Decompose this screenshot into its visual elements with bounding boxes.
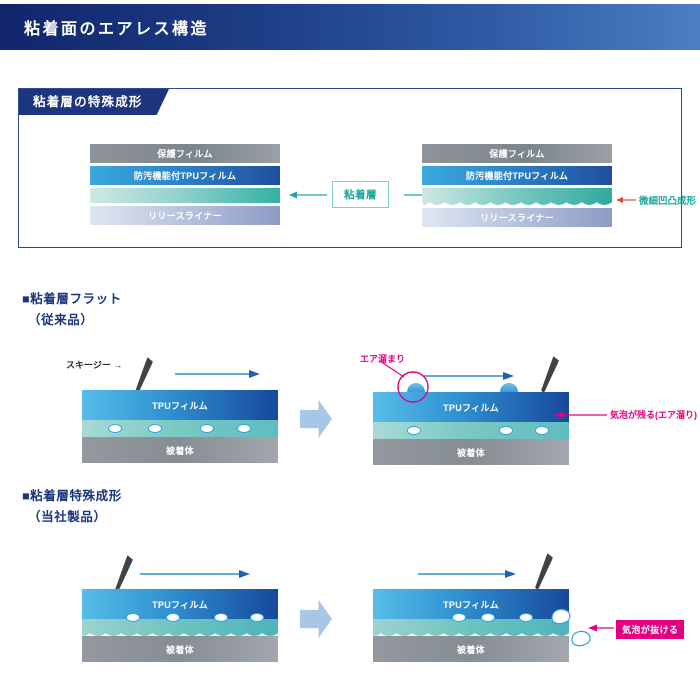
bubbles-escape-label: 気泡が抜ける — [616, 620, 684, 639]
direction-arrow-icon — [418, 568, 516, 580]
product-after-diagram: TPUフィルム 被着体 — [373, 589, 569, 662]
section-conventional-heading: ■粘着層フラット — [22, 288, 122, 307]
texture-callout-label: 微細凹凸成形 — [639, 193, 696, 207]
bubbles-remain-label: 気泡が残る(エア溜り) — [610, 408, 697, 421]
diagram-page: 粘着面のエアレス構造 粘着層の特殊成形 保護フィルム 防汚機能付TPUフィルム … — [0, 0, 700, 700]
adherend-layer: 被着体 — [82, 636, 278, 662]
layer-protective-film: 保護フィルム — [422, 144, 612, 163]
direction-arrow-icon — [175, 368, 260, 380]
bubbles-escape-arrow-icon — [586, 623, 616, 633]
air-bubble — [481, 613, 495, 622]
layer-tpu-film: 防汚機能付TPUフィルム — [422, 166, 612, 185]
adhesive-layer-textured — [82, 619, 278, 636]
page-header: 粘着面のエアレス構造 — [0, 4, 700, 50]
special-forming-panel: 粘着層の特殊成形 保護フィルム 防汚機能付TPUフィルム リリースライナー 粘着… — [18, 88, 682, 248]
layer-release-liner: リリースライナー — [422, 208, 612, 227]
conventional-before-diagram: TPUフィルム 被着体 — [82, 390, 278, 463]
page-title: 粘着面のエアレス構造 — [24, 15, 209, 39]
bubbles-remain-arrow-icon — [551, 410, 607, 420]
adhesive-layer-flat — [373, 422, 569, 439]
texture-callout-arrow-icon — [616, 195, 636, 205]
layer-tpu-film: 防汚機能付TPUフィルム — [90, 166, 280, 185]
air-bubble — [452, 613, 466, 622]
conventional-after-diagram: TPUフィルム 被着体 — [373, 392, 569, 465]
adhesive-layer-textured — [373, 619, 569, 636]
air-bubble — [250, 613, 264, 622]
flat-layer-stack: 保護フィルム 防汚機能付TPUフィルム リリースライナー — [90, 144, 280, 228]
air-bubble — [499, 426, 513, 435]
squeegee-icon — [113, 555, 134, 593]
air-bubble — [166, 613, 180, 622]
air-bubble — [519, 613, 533, 622]
air-bubble — [407, 426, 421, 435]
layer-release-liner: リリースライナー — [90, 206, 280, 225]
direction-arrow-icon — [140, 568, 250, 580]
squeegee-icon — [533, 553, 554, 591]
layer-adhesive-textured — [422, 188, 612, 205]
left-arrow-icon — [289, 189, 329, 201]
transition-arrow-icon — [300, 600, 332, 638]
panel-tag-label: 粘着層の特殊成形 — [19, 89, 169, 115]
tpu-film-layer: TPUフィルム — [82, 390, 278, 420]
air-bubble — [148, 424, 162, 433]
adherend-layer: 被着体 — [373, 439, 569, 465]
air-bubble — [108, 424, 122, 433]
tpu-film-layer: TPUフィルム — [373, 589, 569, 619]
section-product-subheading: （当社製品） — [28, 506, 107, 525]
air-pocket-label: エア溜まり — [360, 352, 405, 365]
textured-layer-stack: 保護フィルム 防汚機能付TPUフィルム リリースライナー — [422, 144, 612, 230]
adhesive-layer-callout: 粘着層 — [332, 181, 389, 208]
adhesive-layer-flat — [82, 420, 278, 437]
air-bubble — [237, 424, 251, 433]
adherend-layer: 被着体 — [82, 437, 278, 463]
squeegee-icon — [539, 356, 560, 394]
section-conventional-subheading: （従来品） — [28, 309, 94, 328]
air-bubble — [200, 424, 214, 433]
adherend-layer: 被着体 — [373, 636, 569, 662]
layer-adhesive-flat — [90, 188, 280, 203]
transition-arrow-icon — [300, 400, 332, 438]
section-product-heading: ■粘着層特殊成形 — [22, 485, 122, 504]
air-bubble — [214, 613, 228, 622]
air-bubble — [535, 426, 549, 435]
product-before-diagram: TPUフィルム 被着体 — [82, 589, 278, 662]
air-bubble — [126, 613, 140, 622]
squeegee-label: スキージー → — [66, 358, 122, 371]
air-pocket-bump — [500, 383, 518, 392]
tpu-film-layer: TPUフィルム — [82, 589, 278, 619]
layer-protective-film: 保護フィルム — [90, 144, 280, 163]
